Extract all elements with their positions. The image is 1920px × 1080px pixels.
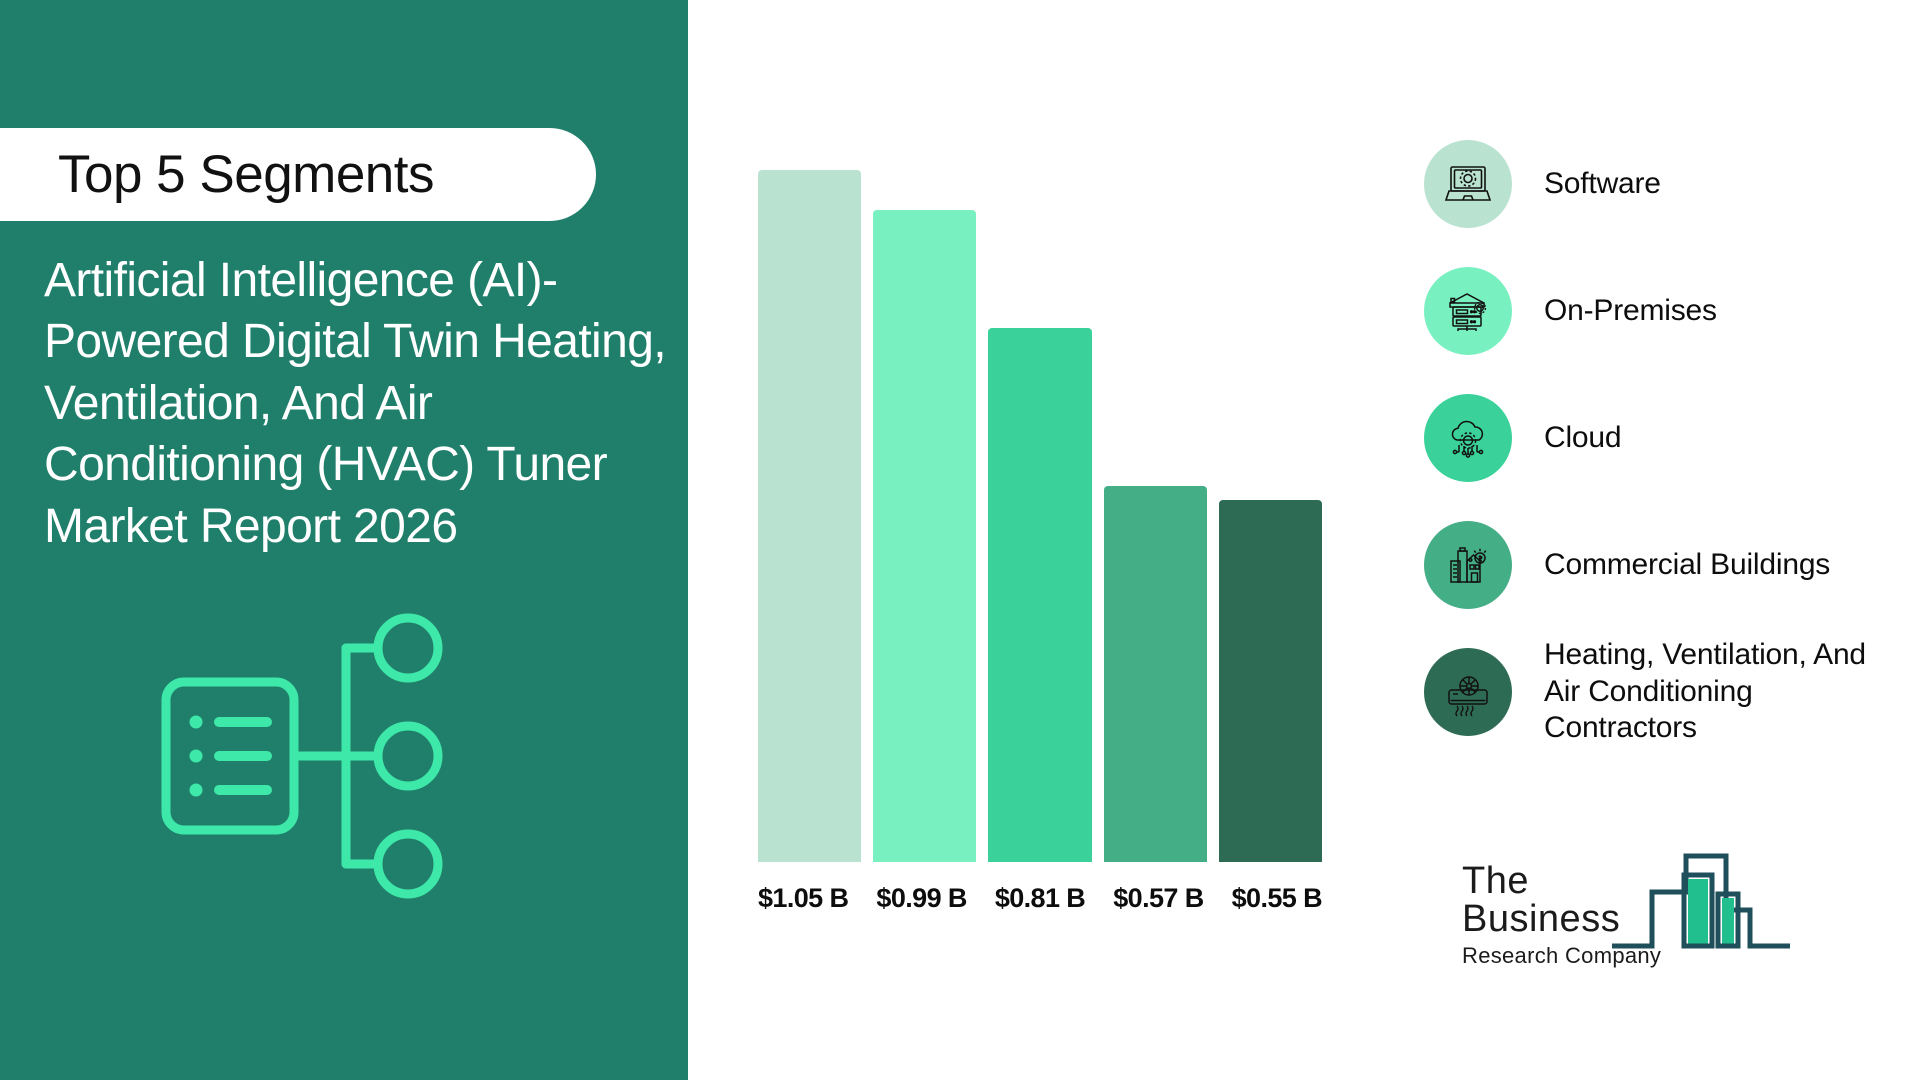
legend-item-software: Software [1424, 132, 1894, 236]
server-building-gear-icon [1442, 285, 1494, 337]
bar-hvac-contractors [1219, 500, 1322, 862]
commercial-buildings-dollar-icon [1442, 539, 1494, 591]
bar-column [1219, 124, 1322, 862]
bar-chart-logo-mark [1610, 846, 1792, 959]
legend-label: Commercial Buildings [1544, 547, 1830, 584]
page-title: Artificial Intelligence (AI)-Powered Dig… [44, 250, 684, 557]
company-logo: The Business Research Company [1462, 838, 1792, 958]
legend-swatch [1424, 267, 1512, 355]
bar-column [873, 124, 976, 862]
legend-label: Cloud [1544, 420, 1621, 457]
bar-value-label: $1.05 B [750, 883, 856, 914]
legend-swatch [1424, 140, 1512, 228]
bar-value-label: $0.57 B [1105, 883, 1211, 914]
bar-column [988, 124, 1091, 862]
segmentation-tree-icon [160, 610, 490, 900]
legend-label: Software [1544, 166, 1661, 203]
cloud-gear-circuit-icon [1442, 412, 1494, 464]
bar-software [758, 170, 861, 862]
legend-item-cloud: Cloud [1424, 386, 1894, 490]
bar-value-label: $0.55 B [1224, 883, 1330, 914]
bar-chart-bars [758, 124, 1322, 862]
bar-value-label: $0.99 B [868, 883, 974, 914]
chart-legend: Software [1424, 132, 1894, 767]
legend-item-on-premises: On-Premises [1424, 259, 1894, 363]
bar-cloud [988, 328, 1091, 862]
bar-value-labels: $1.05 B $0.99 B $0.81 B $0.57 B $0.55 B [750, 883, 1330, 914]
bar-column [758, 124, 861, 862]
air-conditioner-fan-icon [1442, 666, 1494, 718]
legend-label: On-Premises [1544, 293, 1717, 330]
laptop-gear-icon [1442, 158, 1494, 210]
bar-column [1104, 124, 1207, 862]
legend-label: Heating, Ventilation, And Air Conditioni… [1544, 637, 1894, 747]
left-panel: Top 5 Segments Artificial Intelligence (… [0, 0, 688, 1080]
bar-value-label: $0.81 B [987, 883, 1093, 914]
legend-swatch [1424, 648, 1512, 736]
bar-chart: $1.05 B $0.99 B $0.81 B $0.57 B $0.55 B [740, 150, 1340, 950]
bar-commercial-buildings [1104, 486, 1207, 862]
legend-item-commercial-buildings: Commercial Buildings [1424, 513, 1894, 617]
legend-item-hvac-contractors: Heating, Ventilation, And Air Conditioni… [1424, 640, 1894, 744]
top-segments-badge: Top 5 Segments [0, 128, 596, 221]
legend-swatch [1424, 394, 1512, 482]
bar-on-premises [873, 210, 976, 862]
badge-label: Top 5 Segments [58, 148, 434, 201]
legend-swatch [1424, 521, 1512, 609]
